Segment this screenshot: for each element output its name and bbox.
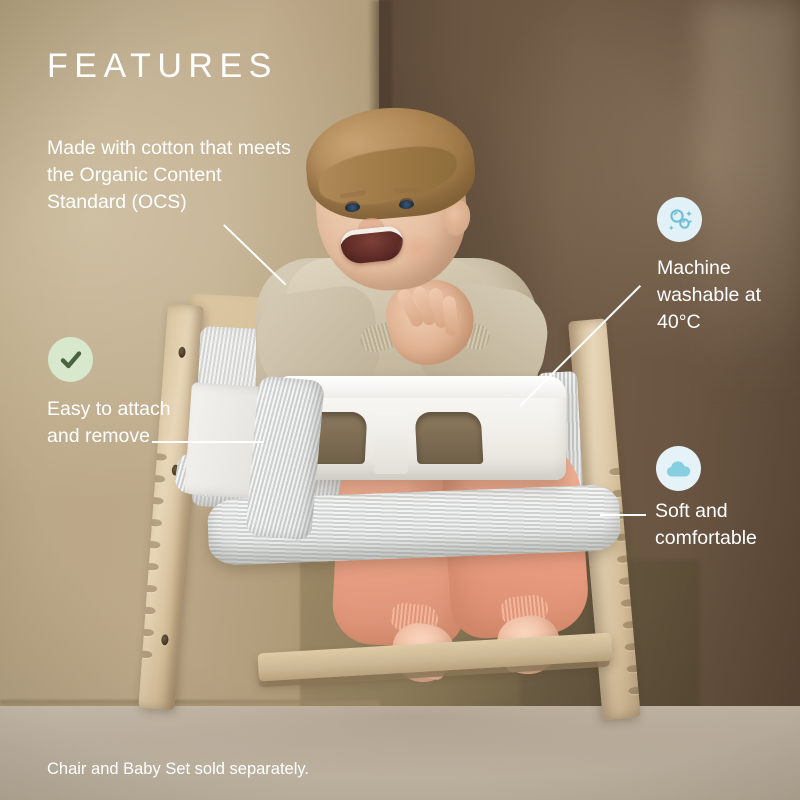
feature-image: FEATURES Made with cotton that meets the… [0,0,800,800]
cloud-icon [656,446,701,491]
leader-line-soft-comfortable [600,514,646,516]
leader-line-easy-attach [152,441,264,443]
leader-line-machine-washable [519,285,640,406]
annotation-label-soft-comfortable: Soft and comfortable [655,498,795,552]
page-title: FEATURES [47,47,278,86]
leader-line-ocs [223,224,286,285]
disclaimer-text: Chair and Baby Set sold separately. [47,760,309,779]
annotation-label-ocs: Made with cotton that meets the Organic … [47,135,297,216]
annotation-label-machine-washable: Machine washable at 40°C [657,255,787,336]
check-icon [48,337,93,382]
annotation-overlay: FEATURES Made with cotton that meets the… [0,0,800,800]
bubbles-icon [657,197,702,242]
